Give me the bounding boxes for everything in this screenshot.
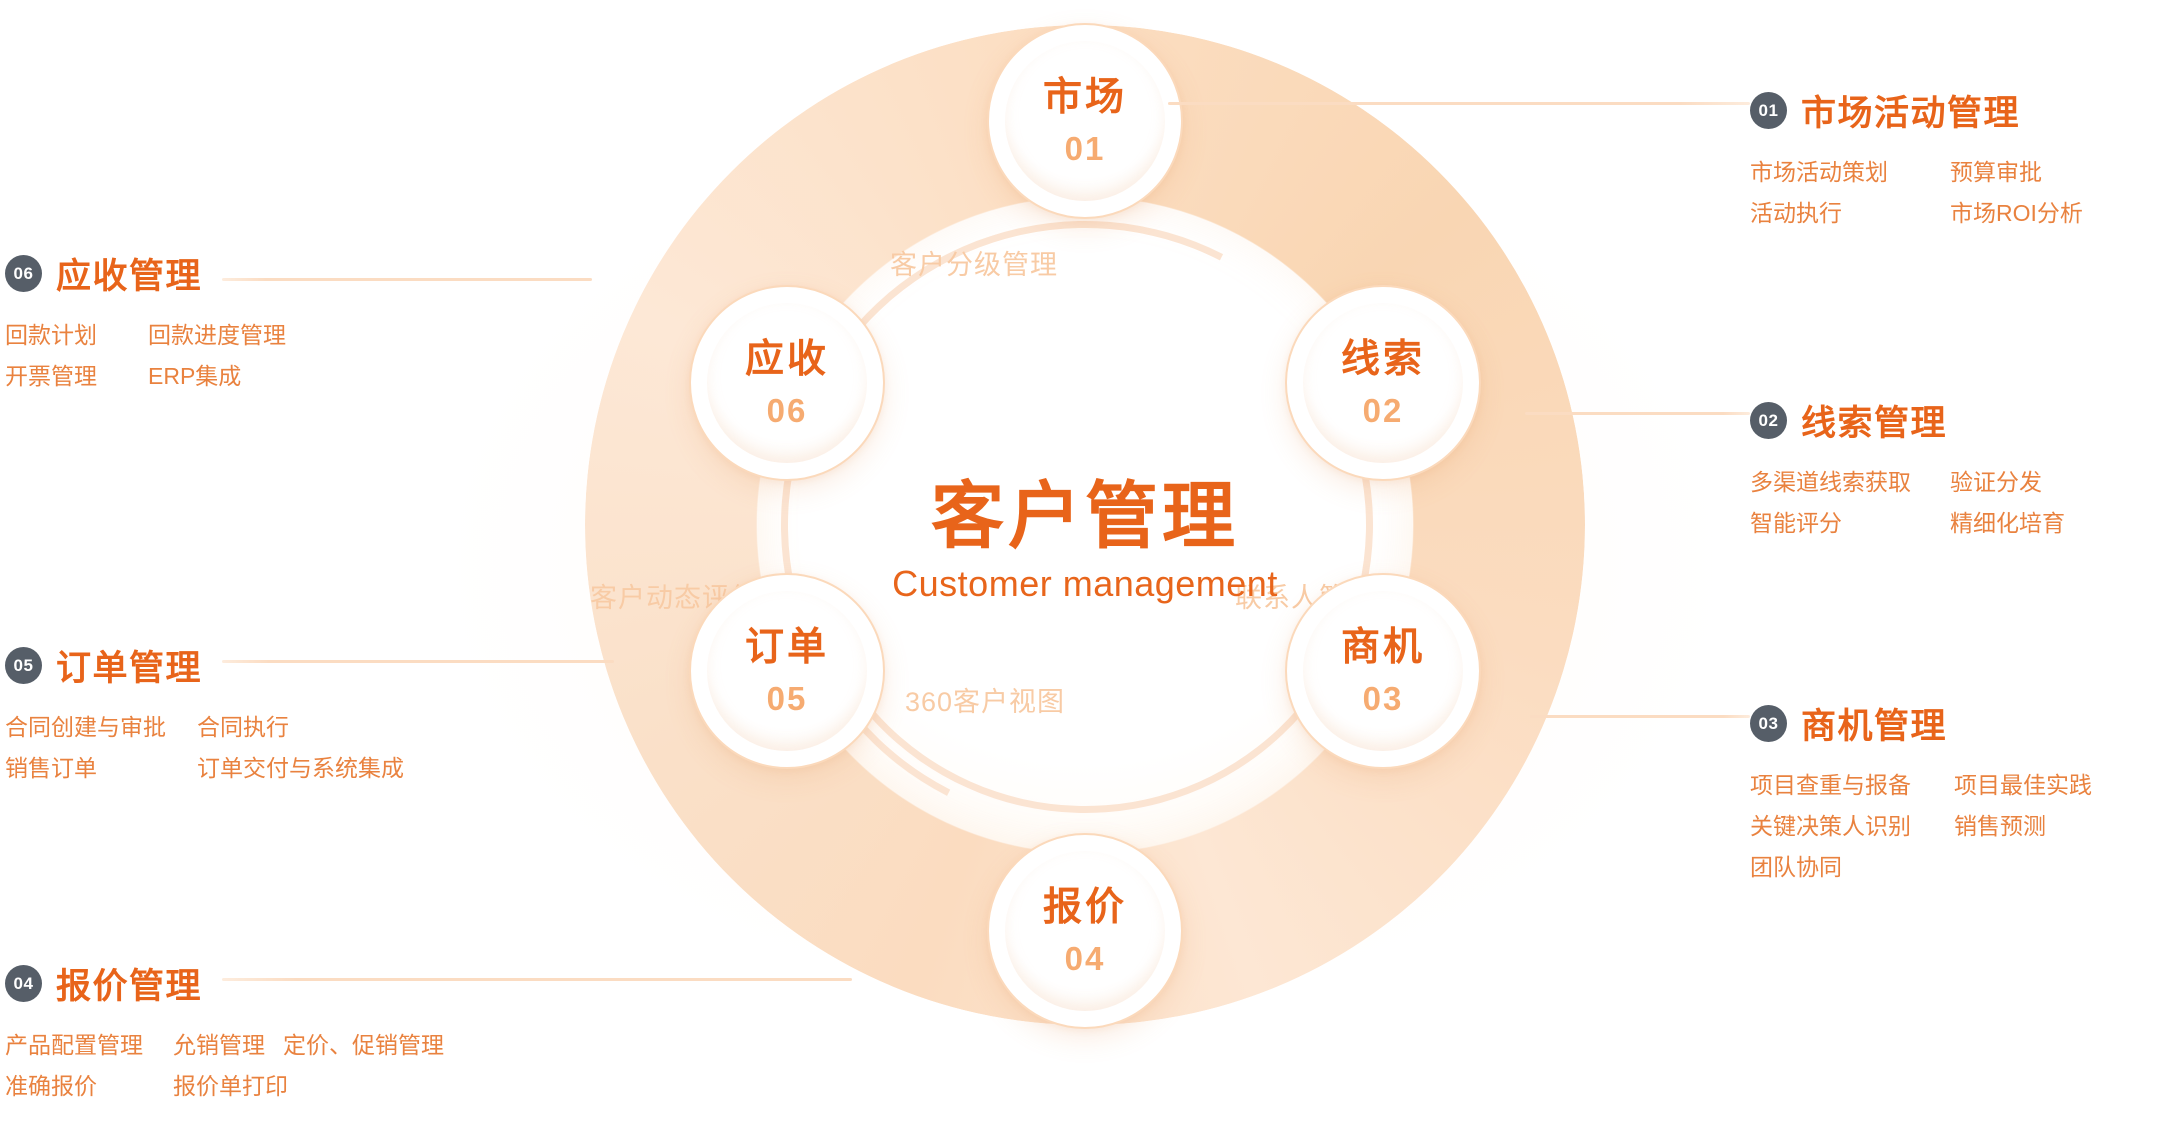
section-item: 智能评分 bbox=[1750, 503, 1950, 544]
node-label: 订单 bbox=[745, 628, 829, 667]
section-item: 预算审批 bbox=[1950, 152, 2042, 193]
ghost-label: 客户分级管理 bbox=[890, 243, 1058, 282]
section-number-badge: 02 bbox=[1750, 402, 1787, 439]
info-section-header[interactable]: 04报价管理 bbox=[5, 958, 444, 1009]
section-item: 关键决策人识别 bbox=[1750, 806, 1954, 847]
section-title: 报价管理 bbox=[56, 958, 202, 1009]
node-label: 报价 bbox=[1043, 888, 1127, 927]
info-section-01: 01市场活动管理市场活动策划预算审批活动执行市场ROI分析 bbox=[1750, 85, 2083, 234]
section-item: 精细化培育 bbox=[1950, 503, 2065, 544]
section-item: 项目最佳实践 bbox=[1954, 765, 2092, 806]
section-item-list: 合同创建与审批合同执行销售订单订单交付与系统集成 bbox=[5, 707, 404, 789]
section-item-row: 回款计划回款进度管理 bbox=[5, 315, 286, 356]
section-number-badge: 01 bbox=[1750, 92, 1787, 129]
section-item: 项目查重与报备 bbox=[1750, 765, 1954, 806]
section-item: 产品配置管理 bbox=[5, 1025, 173, 1066]
section-item-row: 关键决策人识别销售预测 bbox=[1750, 806, 2092, 847]
section-item: 多渠道线索获取 bbox=[1750, 462, 1950, 503]
ghost-label: 360客户视图 bbox=[905, 680, 1065, 719]
process-node-04[interactable]: 报价04 bbox=[987, 833, 1183, 1029]
section-item-row: 准确报价报价单打印 bbox=[5, 1066, 444, 1107]
center-title: 客户管理 bbox=[585, 457, 1585, 563]
process-node-01[interactable]: 市场01 bbox=[987, 23, 1183, 219]
process-node-05[interactable]: 订单05 bbox=[689, 573, 885, 769]
section-item: 报价单打印 bbox=[173, 1066, 283, 1107]
section-item: 准确报价 bbox=[5, 1066, 173, 1107]
info-section-header[interactable]: 03商机管理 bbox=[1750, 698, 2092, 749]
infographic-canvas: 客户分级管理客户动态评估联系人管理360客户视图 客户管理 Customer m… bbox=[0, 0, 2170, 1130]
info-section-header[interactable]: 01市场活动管理 bbox=[1750, 85, 2083, 136]
section-item-row: 项目查重与报备项目最佳实践 bbox=[1750, 765, 2092, 806]
info-section-03: 03商机管理项目查重与报备项目最佳实践关键决策人识别销售预测团队协同 bbox=[1750, 698, 2092, 888]
info-section-06: 06应收管理回款计划回款进度管理开票管理ERP集成 bbox=[5, 248, 286, 397]
section-item-row: 市场活动策划预算审批 bbox=[1750, 152, 2083, 193]
section-number-badge: 05 bbox=[5, 647, 42, 684]
section-number-badge: 04 bbox=[5, 965, 42, 1002]
info-section-header[interactable]: 05订单管理 bbox=[5, 640, 404, 691]
process-node-02[interactable]: 线索02 bbox=[1285, 285, 1481, 481]
section-item: 市场ROI分析 bbox=[1950, 193, 2083, 234]
section-item-row: 活动执行市场ROI分析 bbox=[1750, 193, 2083, 234]
section-item-row: 智能评分精细化培育 bbox=[1750, 503, 2065, 544]
central-ring-group: 客户分级管理客户动态评估联系人管理360客户视图 客户管理 Customer m… bbox=[585, 25, 1585, 1025]
section-item: 开票管理 bbox=[5, 356, 148, 397]
node-label: 市场 bbox=[1043, 78, 1127, 117]
section-item: 销售订单 bbox=[5, 748, 197, 789]
section-item: 团队协同 bbox=[1750, 847, 1954, 888]
section-number-badge: 03 bbox=[1750, 705, 1787, 742]
node-label: 线索 bbox=[1341, 340, 1425, 379]
section-item: 市场活动策划 bbox=[1750, 152, 1950, 193]
node-number: 03 bbox=[1363, 682, 1404, 715]
section-item: 活动执行 bbox=[1750, 193, 1950, 234]
connector-line-03 bbox=[1530, 715, 1750, 718]
info-section-05: 05订单管理合同创建与审批合同执行销售订单订单交付与系统集成 bbox=[5, 640, 404, 789]
section-title: 线索管理 bbox=[1801, 395, 1947, 446]
section-title: 商机管理 bbox=[1801, 698, 1947, 749]
section-item: ERP集成 bbox=[148, 356, 241, 397]
section-title: 订单管理 bbox=[56, 640, 202, 691]
section-item-list: 产品配置管理允销管理定价、促销管理准确报价报价单打印 bbox=[5, 1025, 444, 1107]
section-item: 允销管理 bbox=[173, 1025, 283, 1066]
section-item: 合同执行 bbox=[197, 707, 289, 748]
connector-line-02 bbox=[1525, 412, 1750, 415]
section-item: 销售预测 bbox=[1954, 806, 2046, 847]
info-section-header[interactable]: 02线索管理 bbox=[1750, 395, 2065, 446]
section-item-list: 项目查重与报备项目最佳实践关键决策人识别销售预测团队协同 bbox=[1750, 765, 2092, 888]
section-item-list: 多渠道线索获取验证分发智能评分精细化培育 bbox=[1750, 462, 2065, 544]
section-title: 应收管理 bbox=[56, 248, 202, 299]
section-item: 定价、促销管理 bbox=[283, 1025, 444, 1066]
process-node-03[interactable]: 商机03 bbox=[1285, 573, 1481, 769]
node-number: 06 bbox=[767, 394, 808, 427]
connector-line-01 bbox=[1168, 102, 1750, 105]
node-label: 应收 bbox=[745, 340, 829, 379]
section-item-row: 团队协同 bbox=[1750, 847, 2092, 888]
section-item-row: 开票管理ERP集成 bbox=[5, 356, 286, 397]
info-section-header[interactable]: 06应收管理 bbox=[5, 248, 286, 299]
info-section-04: 04报价管理产品配置管理允销管理定价、促销管理准确报价报价单打印 bbox=[5, 958, 444, 1107]
section-item: 回款进度管理 bbox=[148, 315, 286, 356]
section-item: 回款计划 bbox=[5, 315, 148, 356]
section-item-row: 多渠道线索获取验证分发 bbox=[1750, 462, 2065, 503]
section-item-row: 产品配置管理允销管理定价、促销管理 bbox=[5, 1025, 444, 1066]
section-item: 合同创建与审批 bbox=[5, 707, 197, 748]
section-item-list: 回款计划回款进度管理开票管理ERP集成 bbox=[5, 315, 286, 397]
process-node-06[interactable]: 应收06 bbox=[689, 285, 885, 481]
section-item: 验证分发 bbox=[1950, 462, 2042, 503]
section-number-badge: 06 bbox=[5, 255, 42, 292]
section-item-row: 合同创建与审批合同执行 bbox=[5, 707, 404, 748]
node-number: 01 bbox=[1065, 132, 1106, 165]
section-item-list: 市场活动策划预算审批活动执行市场ROI分析 bbox=[1750, 152, 2083, 234]
node-number: 05 bbox=[767, 682, 808, 715]
section-title: 市场活动管理 bbox=[1801, 85, 2020, 136]
section-item: 订单交付与系统集成 bbox=[197, 748, 404, 789]
section-item-row: 销售订单订单交付与系统集成 bbox=[5, 748, 404, 789]
info-section-02: 02线索管理多渠道线索获取验证分发智能评分精细化培育 bbox=[1750, 395, 2065, 544]
node-number: 02 bbox=[1363, 394, 1404, 427]
node-number: 04 bbox=[1065, 942, 1106, 975]
node-label: 商机 bbox=[1341, 628, 1425, 667]
